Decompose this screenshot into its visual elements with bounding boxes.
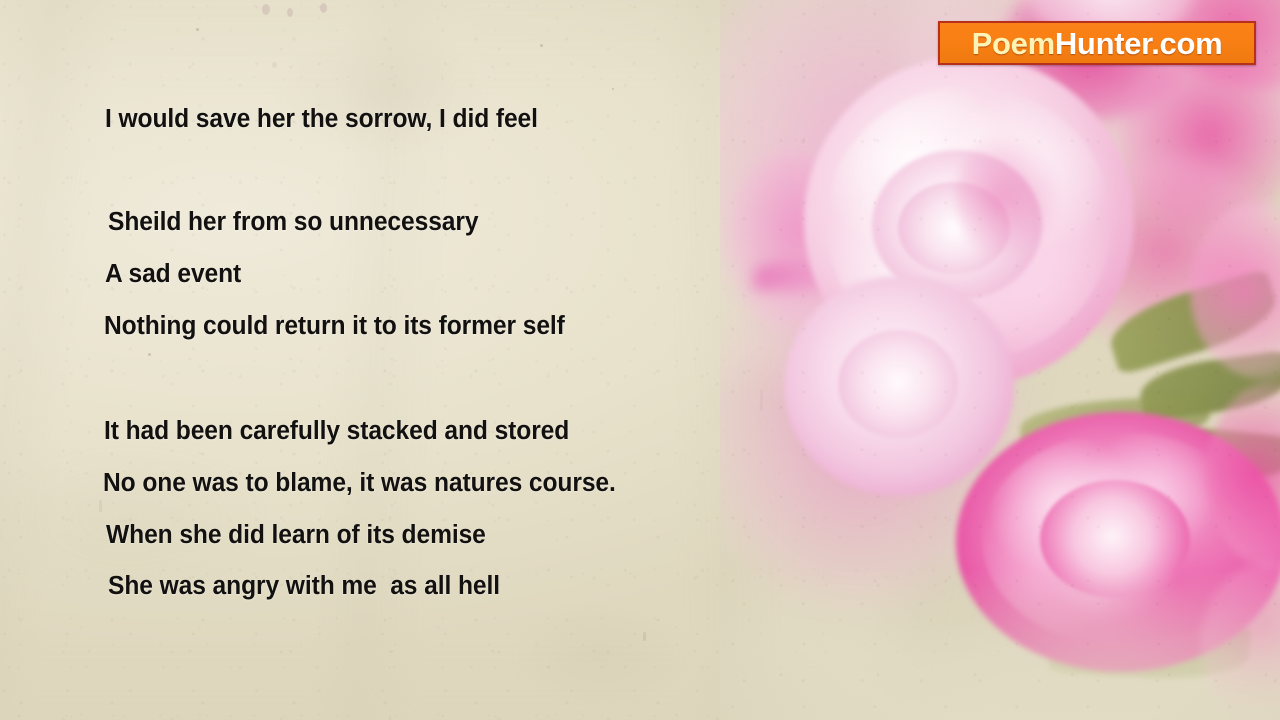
poem-line: Nothing could return it to its former se… xyxy=(104,312,565,341)
rose-photograph xyxy=(720,0,1280,720)
poem-image-canvas: PoemHunter.com I would save her the sorr… xyxy=(0,0,1280,720)
logo-text: PoemHunter.com xyxy=(972,28,1223,59)
poem-line: No one was to blame, it was natures cour… xyxy=(103,469,616,498)
poem-line: A sad event xyxy=(105,260,241,289)
poem-line: She was angry with me as all hell xyxy=(108,572,500,601)
poem-line: When she did learn of its demise xyxy=(106,521,486,550)
photo-vignette xyxy=(720,0,1280,720)
poem-line: It had been carefully stacked and stored xyxy=(104,417,569,446)
poem-line: Sheild her from so unnecessary xyxy=(108,208,478,237)
logo-text-hunter: Hunter.com xyxy=(1055,26,1223,61)
logo-text-poem: Poem xyxy=(972,26,1055,61)
poemhunter-logo[interactable]: PoemHunter.com xyxy=(938,21,1256,65)
poem-line: I would save her the sorrow, I did feel xyxy=(105,105,538,134)
